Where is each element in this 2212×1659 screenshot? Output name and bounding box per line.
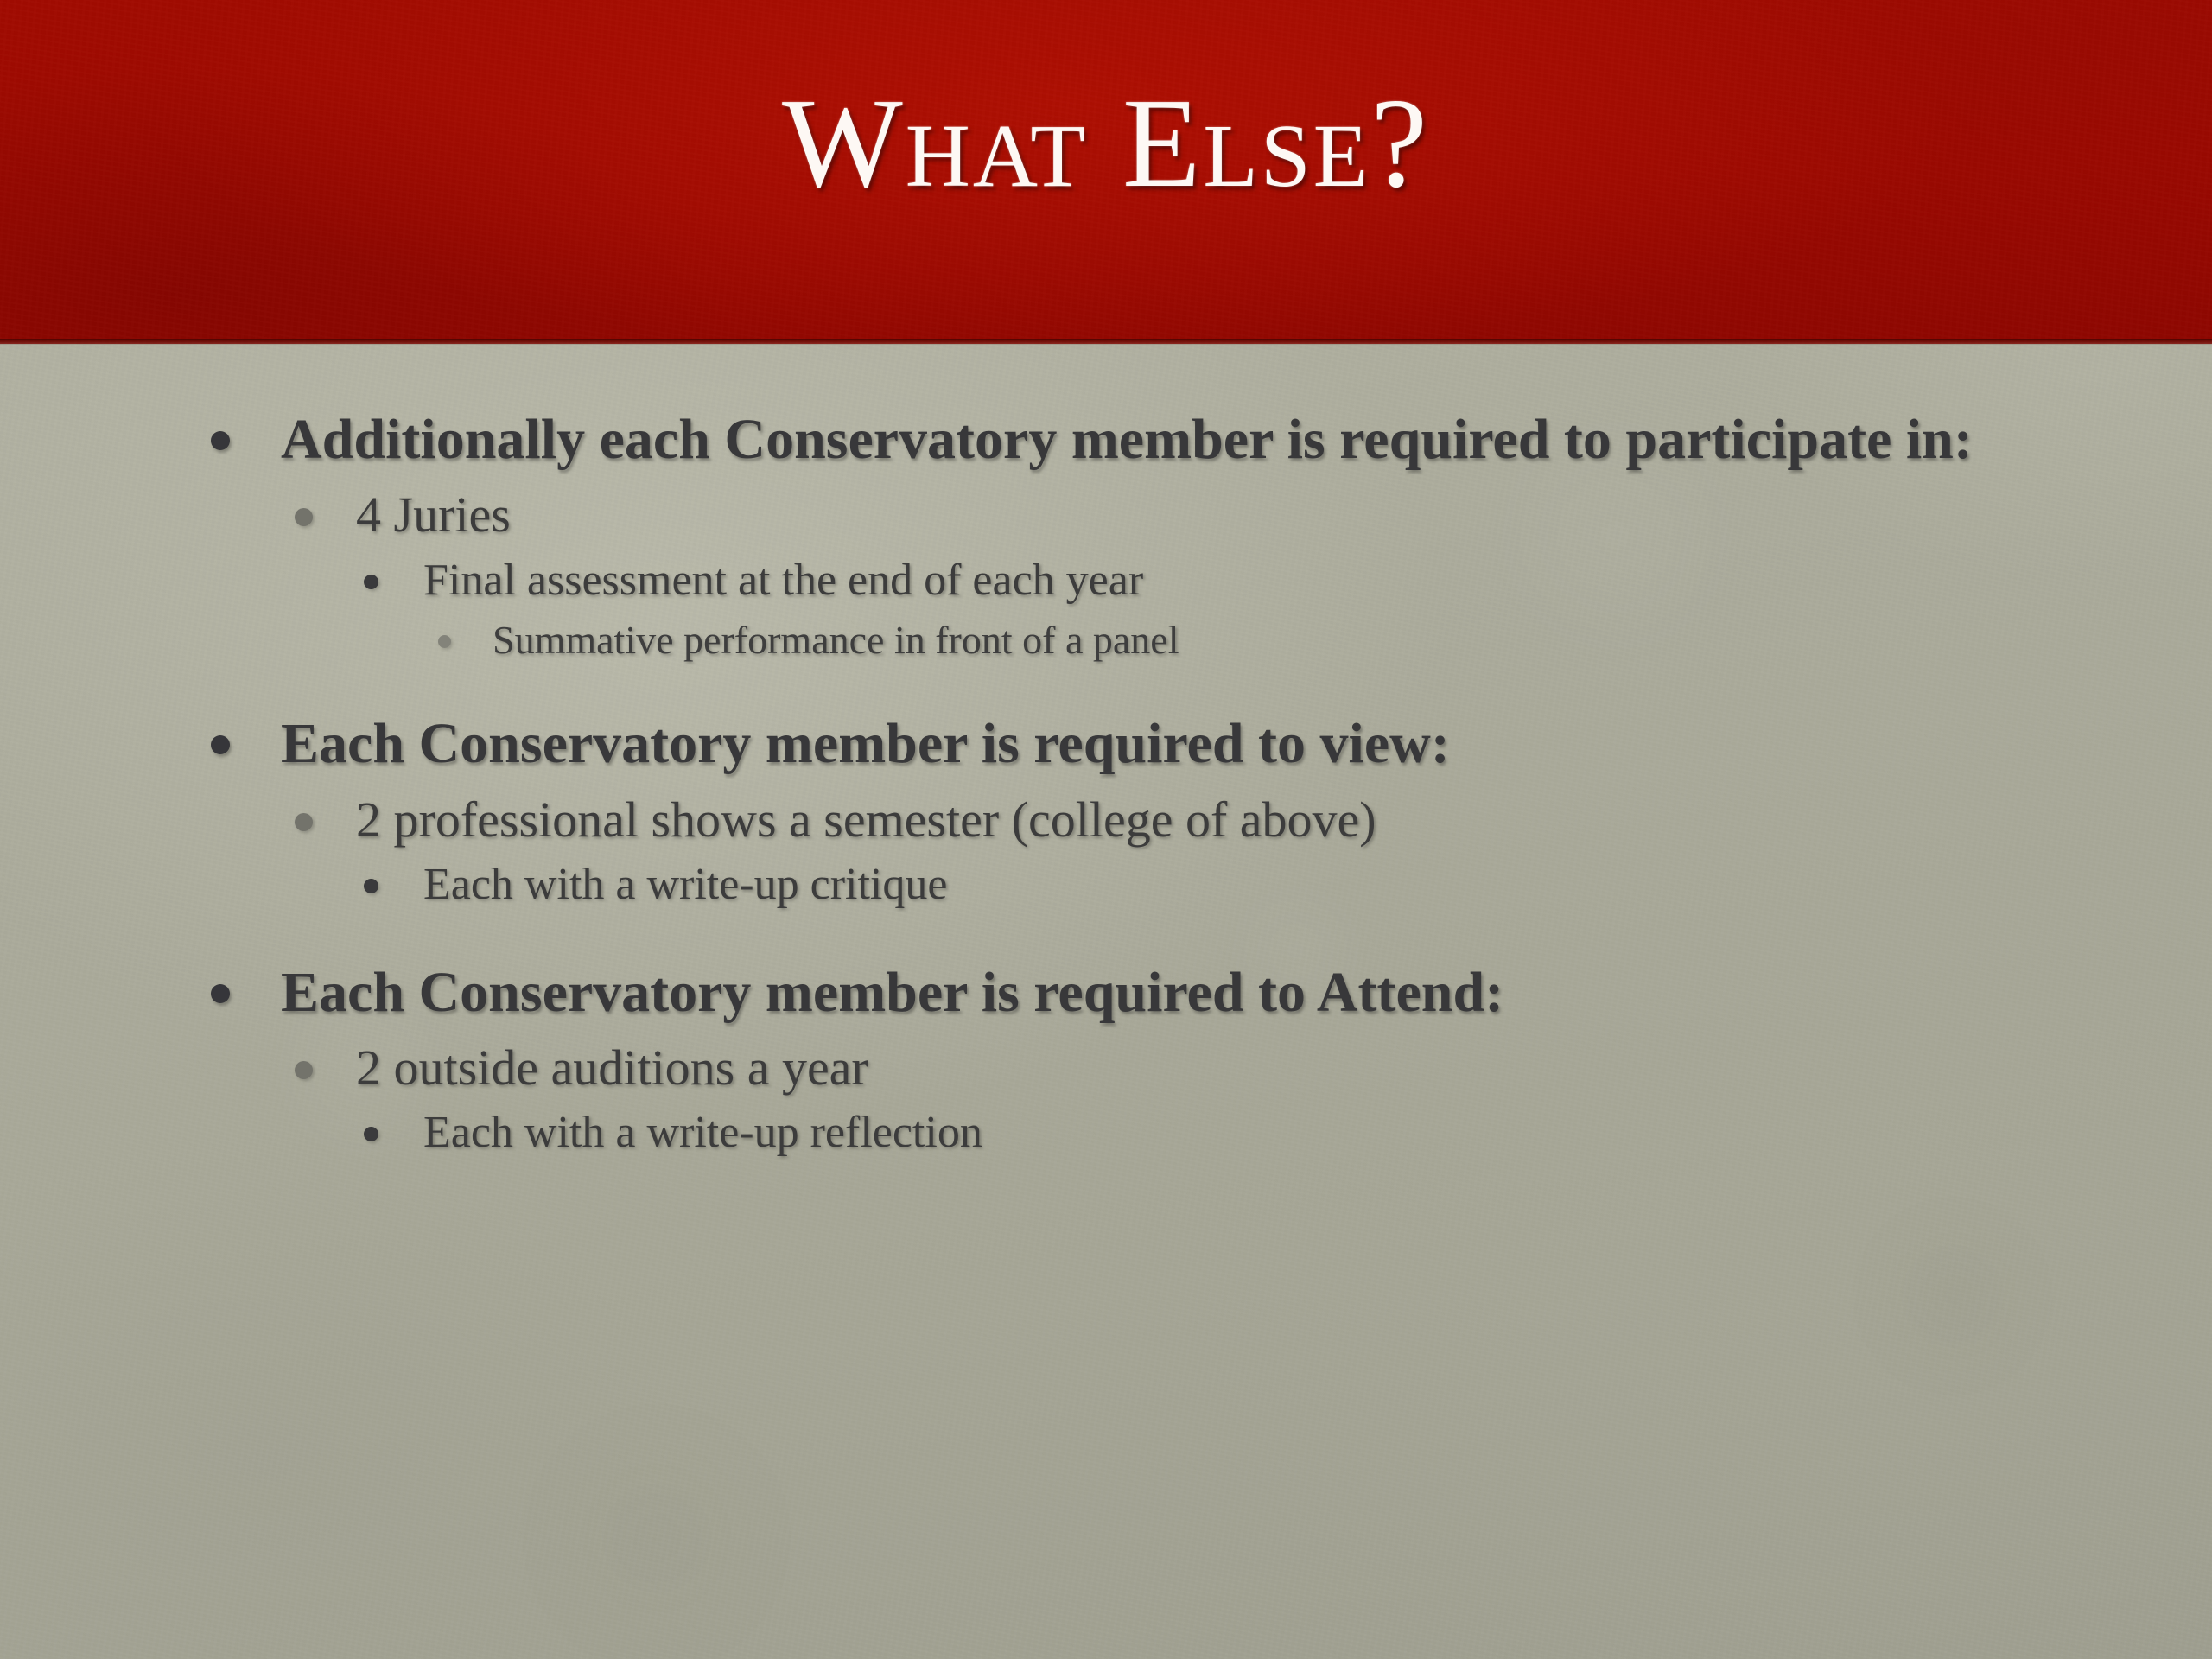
- bullet-group-1: Additionally each Conservatory member is…: [0, 406, 2212, 664]
- bullet-marker-level3-icon: [364, 879, 378, 893]
- bullet-marker-level1-icon: [211, 431, 230, 450]
- bullet-level1-text: Each Conservatory member is required to …: [281, 710, 1979, 777]
- bullet-marker-level3-icon: [364, 1127, 378, 1141]
- bullet-level2-text: 2 outside auditions a year: [356, 1038, 1987, 1098]
- bullet-level2-text: 4 Juries: [356, 485, 1987, 545]
- presentation-slide: What Else? Additionally each Conservator…: [0, 0, 2212, 1659]
- bullet-level3-text: Final assessment at the end of each year: [423, 554, 1996, 607]
- bullet-level4-text: Summative performance in front of a pane…: [493, 616, 2005, 664]
- bullet-level2-item: 2 outside auditions a year: [0, 1038, 2212, 1098]
- title-banner-edge-divider: [0, 339, 2212, 345]
- bullet-level1-heading: Additionally each Conservatory member is…: [0, 406, 2212, 473]
- bullet-level4-item: Summative performance in front of a pane…: [0, 616, 2212, 664]
- bullet-level1-heading: Each Conservatory member is required to …: [0, 710, 2212, 777]
- bullet-level3-item: Each with a write-up reflection: [0, 1106, 2212, 1160]
- bullet-level1-text: Each Conservatory member is required to …: [281, 959, 1979, 1026]
- bullet-marker-level4-icon: [438, 635, 451, 648]
- bullet-level1-heading: Each Conservatory member is required to …: [0, 959, 2212, 1026]
- bullet-marker-level2-icon: [295, 1061, 313, 1079]
- bullet-marker-level1-icon: [211, 735, 230, 754]
- bullet-marker-level3-icon: [364, 575, 378, 589]
- bullet-marker-level1-icon: [211, 984, 230, 1003]
- bullet-level3-text: Each with a write-up critique: [423, 858, 1996, 912]
- bullet-group-3: Each Conservatory member is required to …: [0, 959, 2212, 1160]
- bullet-marker-level2-icon: [295, 813, 313, 831]
- bullet-level2-text: 2 professional shows a semester (college…: [356, 790, 1987, 850]
- slide-title: What Else?: [0, 79, 2212, 207]
- bullet-marker-level2-icon: [295, 508, 313, 526]
- bullet-level3-text: Each with a write-up reflection: [423, 1106, 1996, 1160]
- bullet-level2-item: 2 professional shows a semester (college…: [0, 790, 2212, 850]
- slide-body-content: Additionally each Conservatory member is…: [0, 406, 2212, 1169]
- bullet-level1-text: Additionally each Conservatory member is…: [281, 406, 1979, 473]
- bullet-level3-item: Final assessment at the end of each year: [0, 554, 2212, 607]
- bullet-group-2: Each Conservatory member is required to …: [0, 710, 2212, 912]
- bullet-level2-item: 4 Juries: [0, 485, 2212, 545]
- bullet-level3-item: Each with a write-up critique: [0, 858, 2212, 912]
